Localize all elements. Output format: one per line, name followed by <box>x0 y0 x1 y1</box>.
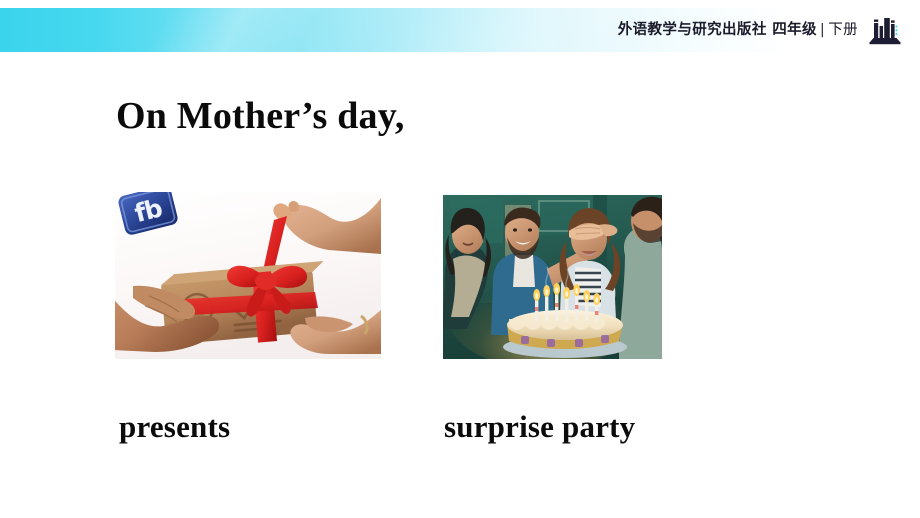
caption-surprise-party: surprise party <box>444 409 635 445</box>
gift-handover-photo: fb <box>115 192 381 359</box>
publisher-line: 外语教学与研究出版社 四年级|下册 <box>618 23 858 38</box>
page-title: On Mother’s day, <box>116 96 405 138</box>
grade-label: 四年级 <box>772 22 817 38</box>
header-separator: | <box>817 22 828 38</box>
caption-presents: presents <box>119 409 230 445</box>
publisher-name: 外语教学与研究出版社 <box>618 22 767 38</box>
volume-label: 下册 <box>828 22 858 38</box>
surprise-party-photo <box>443 195 662 359</box>
header-right-group: 外语教学与研究出版社 四年级|下册 <box>618 8 902 52</box>
fltrp-books-logo-icon <box>868 15 902 45</box>
slide-canvas: 外语教学与研究出版社 四年级|下册 <box>0 0 920 518</box>
